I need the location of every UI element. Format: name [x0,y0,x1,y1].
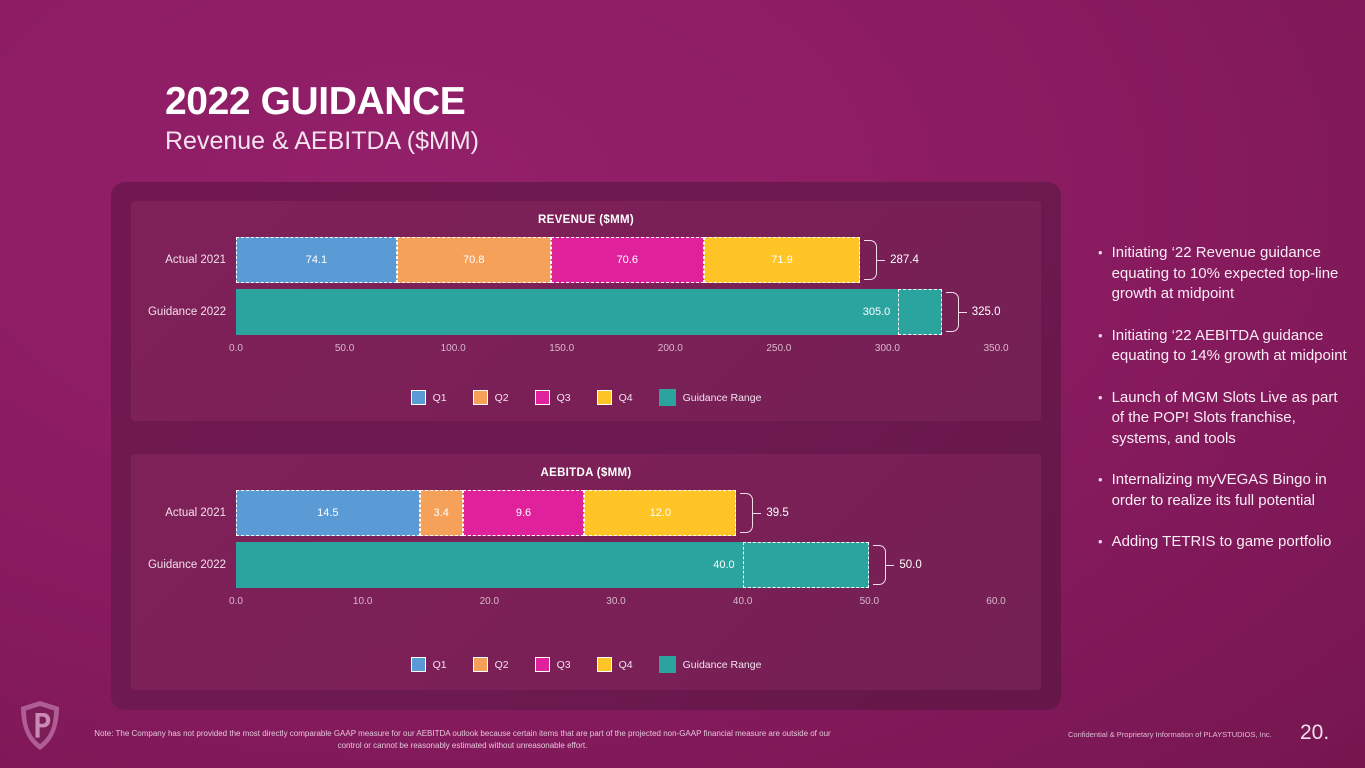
bar-segment-value: 3.4 [434,507,449,519]
bar-segment-guidance-range [898,289,941,335]
bullet-list: •Initiating ‘22 Revenue guidance equatin… [1098,243,1348,574]
bar-row-guidance: Guidance 202240.050.0 [236,542,996,588]
bar-segment-guidance-low: 40.0 [236,542,743,588]
bullet-text: Internalizing myVEGAS Bingo in order to … [1112,470,1348,511]
legend-label: Q3 [557,659,571,671]
x-axis-tick-label: 300.0 [875,343,900,354]
legend-item-guidance-range[interactable]: Guidance Range [659,389,762,406]
legend-label: Q2 [495,659,509,671]
legend-label: Q3 [557,392,571,404]
legend-swatch-icon [659,389,676,406]
legend-swatch-icon [411,390,426,405]
bar-segment-value: 70.6 [617,254,638,266]
x-axis-tick-label: 150.0 [549,343,574,354]
bar-segment-value: 71.9 [771,254,792,266]
bar-segment-guidance-range [743,542,870,588]
legend-swatch-icon [597,657,612,672]
bullet-text: Initiating ‘22 AEBITDA guidance equating… [1112,326,1348,367]
page-number: 20. [1300,721,1329,745]
bullet-dot-icon: • [1098,243,1103,305]
legend-label: Q2 [495,392,509,404]
bullet-dot-icon: • [1098,470,1103,511]
x-axis-tick-label: 0.0 [229,343,243,354]
bar-segment-value: 12.0 [650,507,671,519]
bar-segment-q1: 14.5 [236,490,420,536]
bar-segment-q4: 12.0 [584,490,736,536]
total-label: 39.5 [766,507,788,519]
x-axis-tick-label: 50.0 [860,596,879,607]
legend-swatch-icon [597,390,612,405]
legend-swatch-icon [659,656,676,673]
bullet-item: •Initiating ‘22 Revenue guidance equatin… [1098,243,1348,305]
title-block: 2022 GUIDANCE Revenue & AEBITDA ($MM) [165,80,479,156]
playstudios-shield-logo-icon [18,700,62,752]
legend-swatch-icon [473,657,488,672]
footnote: Note: The Company has not provided the m… [90,728,835,751]
x-axis-tick-label: 100.0 [441,343,466,354]
bullet-item: •Launch of MGM Slots Live as part of the… [1098,388,1348,450]
x-axis-tick-label: 350.0 [983,343,1008,354]
bar-segment-guidance-low: 305.0 [236,289,898,335]
legend-item-q3[interactable]: Q3 [535,390,571,405]
chart-panel-revenue: REVENUE ($MM) Actual 202174.170.870.671.… [131,201,1041,421]
total-brace [740,493,753,533]
x-axis-tick-label: 200.0 [658,343,683,354]
legend-item-q2[interactable]: Q2 [473,390,509,405]
bullet-item: •Initiating ‘22 AEBITDA guidance equatin… [1098,326,1348,367]
legend-swatch-icon [473,390,488,405]
bar-segment-q1: 74.1 [236,237,397,283]
bullet-text: Launch of MGM Slots Live as part of the … [1112,388,1348,450]
total-label: 50.0 [899,559,921,571]
x-axis-tick-label: 40.0 [733,596,752,607]
bar-row-guidance: Guidance 2022305.0325.0 [236,289,996,335]
legend-label: Guidance Range [683,659,762,671]
x-axis-tick-label: 20.0 [480,596,499,607]
bar-segment-value: 305.0 [863,306,891,318]
chart-panel-aebitda: AEBITDA ($MM) Actual 202114.53.49.612.03… [131,454,1041,690]
legend-swatch-icon [535,390,550,405]
x-axis-tick-label: 60.0 [986,596,1005,607]
page-subtitle: Revenue & AEBITDA ($MM) [165,126,479,156]
legend-label: Q1 [433,659,447,671]
bar-segment-q3: 70.6 [551,237,704,283]
x-axis-tick-label: 0.0 [229,596,243,607]
legend-item-q1[interactable]: Q1 [411,390,447,405]
x-axis: 0.050.0100.0150.0200.0250.0300.0350.0 [236,343,996,359]
total-brace [873,545,886,585]
legend-label: Guidance Range [683,392,762,404]
legend-item-guidance-range[interactable]: Guidance Range [659,656,762,673]
bar-row-actual: Actual 202114.53.49.612.039.5 [236,490,996,536]
chart-title-revenue: REVENUE ($MM) [131,214,1041,226]
x-axis: 0.010.020.030.040.050.060.0 [236,596,996,612]
total-label: 325.0 [972,306,1001,318]
bar-segment-value: 74.1 [306,254,327,266]
legend-label: Q4 [619,392,633,404]
bar-segment-q2: 70.8 [397,237,551,283]
chart-legend-revenue: Q1Q2Q3Q4Guidance Range [131,389,1041,406]
legend-swatch-icon [411,657,426,672]
bar-segment-q4: 71.9 [704,237,860,283]
bar-segment-value: 40.0 [713,559,734,571]
bar-segment-value: 9.6 [516,507,531,519]
bar-segment-q3: 9.6 [463,490,585,536]
charts-card: REVENUE ($MM) Actual 202174.170.870.671.… [111,182,1061,710]
total-brace [946,292,959,332]
total-brace [864,240,877,280]
bullet-text: Adding TETRIS to game portfolio [1112,532,1332,553]
legend-item-q1[interactable]: Q1 [411,657,447,672]
x-axis-tick-label: 250.0 [766,343,791,354]
bullet-text: Initiating ‘22 Revenue guidance equating… [1112,243,1348,305]
x-axis-tick-label: 30.0 [606,596,625,607]
bar-row-actual: Actual 202174.170.870.671.9287.4 [236,237,996,283]
plot-area-revenue: Actual 202174.170.870.671.9287.4Guidance… [236,237,996,359]
x-axis-tick-label: 50.0 [335,343,354,354]
bullet-dot-icon: • [1098,326,1103,367]
bullet-item: •Adding TETRIS to game portfolio [1098,532,1348,553]
bar-row-label: Guidance 2022 [148,559,226,571]
x-axis-tick-label: 10.0 [353,596,372,607]
legend-item-q3[interactable]: Q3 [535,657,571,672]
confidentiality-notice: Confidential & Proprietary Information o… [1068,730,1272,739]
total-label: 287.4 [890,254,919,266]
legend-item-q4[interactable]: Q4 [597,657,633,672]
bar-segment-value: 70.8 [463,254,484,266]
page-title: 2022 GUIDANCE [165,80,479,124]
bar-row-label: Guidance 2022 [148,306,226,318]
legend-label: Q1 [433,392,447,404]
legend-swatch-icon [535,657,550,672]
chart-legend-aebitda: Q1Q2Q3Q4Guidance Range [131,656,1041,673]
bullet-item: •Internalizing myVEGAS Bingo in order to… [1098,470,1348,511]
slide-root: 2022 GUIDANCE Revenue & AEBITDA ($MM) RE… [0,0,1365,768]
legend-item-q4[interactable]: Q4 [597,390,633,405]
legend-label: Q4 [619,659,633,671]
bar-segment-q2: 3.4 [420,490,463,536]
bullet-dot-icon: • [1098,532,1103,553]
plot-area-aebitda: Actual 202114.53.49.612.039.5Guidance 20… [236,490,996,612]
bar-row-label: Actual 2021 [165,254,226,266]
bar-segment-value: 14.5 [317,507,338,519]
bullet-dot-icon: • [1098,388,1103,450]
bar-row-label: Actual 2021 [165,507,226,519]
chart-title-aebitda: AEBITDA ($MM) [131,467,1041,479]
legend-item-q2[interactable]: Q2 [473,657,509,672]
